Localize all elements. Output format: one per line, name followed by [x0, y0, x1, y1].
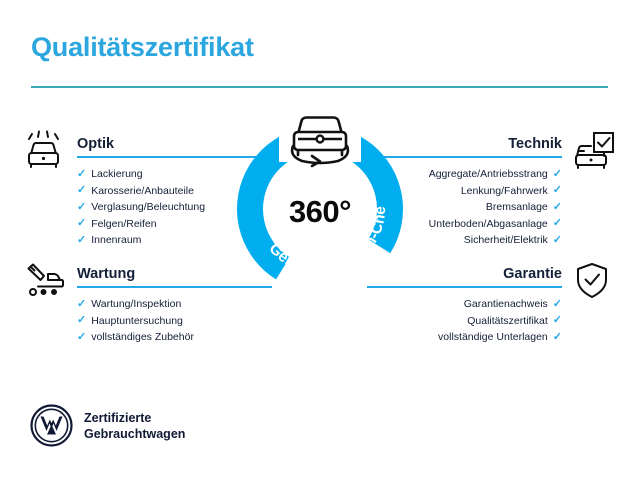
check-icon: ✓ — [77, 218, 86, 229]
check-icon: ✓ — [77, 169, 86, 180]
list-item: ✓ vollständiges Zubehör — [77, 329, 272, 346]
list-item-label: Unterboden/Abgasanlage — [429, 216, 548, 233]
car-check-icon — [571, 130, 617, 170]
list-item-label: Innenraum — [91, 232, 141, 249]
wartung-item-list: ✓ Wartung/Inspektion ✓ Hauptuntersuchung… — [77, 296, 272, 346]
check-icon: ✓ — [77, 185, 86, 196]
vw-footer: Zertifizierte Gebrauchtwagen — [30, 404, 185, 447]
car-service-icon — [22, 260, 68, 300]
vw-footer-text: Zertifizierte Gebrauchtwagen — [84, 410, 185, 442]
check-icon: ✓ — [77, 299, 86, 310]
list-item-label: Hauptuntersuchung — [91, 313, 183, 330]
list-item: ✓ Hauptuntersuchung — [77, 313, 272, 330]
list-item: Qualitätszertifikat ✓ — [367, 313, 562, 330]
check-icon: ✓ — [77, 202, 86, 213]
vw-logo-icon — [30, 404, 73, 447]
vw-footer-line1: Zertifizierte — [84, 410, 185, 426]
car-shine-icon — [22, 130, 68, 170]
list-item-label: Sicherheit/Elektrik — [464, 232, 548, 249]
list-item-label: vollständige Unterlagen — [438, 329, 548, 346]
shield-check-icon — [569, 260, 615, 300]
vw-footer-line2: Gebrauchtwagen — [84, 426, 185, 442]
list-item-label: Qualitätszertifikat — [467, 313, 548, 330]
check-icon: ✓ — [553, 235, 562, 246]
page-title: Qualitätszertifikat — [31, 32, 254, 63]
list-item-label: vollständiges Zubehör — [91, 329, 194, 346]
title-divider — [31, 86, 608, 88]
car-rotate-icon — [279, 112, 361, 174]
list-item-label: Karosserie/Anbauteile — [91, 183, 194, 200]
list-item-label: Bremsanlage — [486, 199, 548, 216]
360-check-badge: Gebrauchtwagen-Check 360° — [229, 118, 411, 300]
check-icon: ✓ — [553, 185, 562, 196]
list-item-label: Verglasung/Beleuchtung — [91, 199, 205, 216]
check-icon: ✓ — [553, 315, 562, 326]
check-icon: ✓ — [553, 218, 562, 229]
check-icon: ✓ — [553, 332, 562, 343]
list-item-label: Garantienachweis — [464, 296, 548, 313]
check-icon: ✓ — [553, 169, 562, 180]
list-item: vollständige Unterlagen ✓ — [367, 329, 562, 346]
list-item-label: Lenkung/Fahrwerk — [461, 183, 548, 200]
section-title-technik: Technik — [508, 136, 562, 152]
garantie-item-list: Garantienachweis ✓ Qualitätszertifikat ✓… — [367, 296, 562, 346]
section-title-wartung: Wartung — [77, 266, 135, 282]
list-item-label: Aggregate/Antriebsstrang — [429, 166, 548, 183]
section-title-garantie: Garantie — [503, 266, 562, 282]
certificate-page: Qualitätszertifikat Optik — [0, 0, 639, 479]
check-icon: ✓ — [553, 202, 562, 213]
list-item-label: Wartung/Inspektion — [91, 296, 181, 313]
check-icon: ✓ — [77, 315, 86, 326]
list-item-label: Felgen/Reifen — [91, 216, 156, 233]
check-icon: ✓ — [77, 235, 86, 246]
check-icon: ✓ — [77, 332, 86, 343]
list-item-label: Lackierung — [91, 166, 142, 183]
check-icon: ✓ — [553, 299, 562, 310]
section-title-optik: Optik — [77, 136, 114, 152]
